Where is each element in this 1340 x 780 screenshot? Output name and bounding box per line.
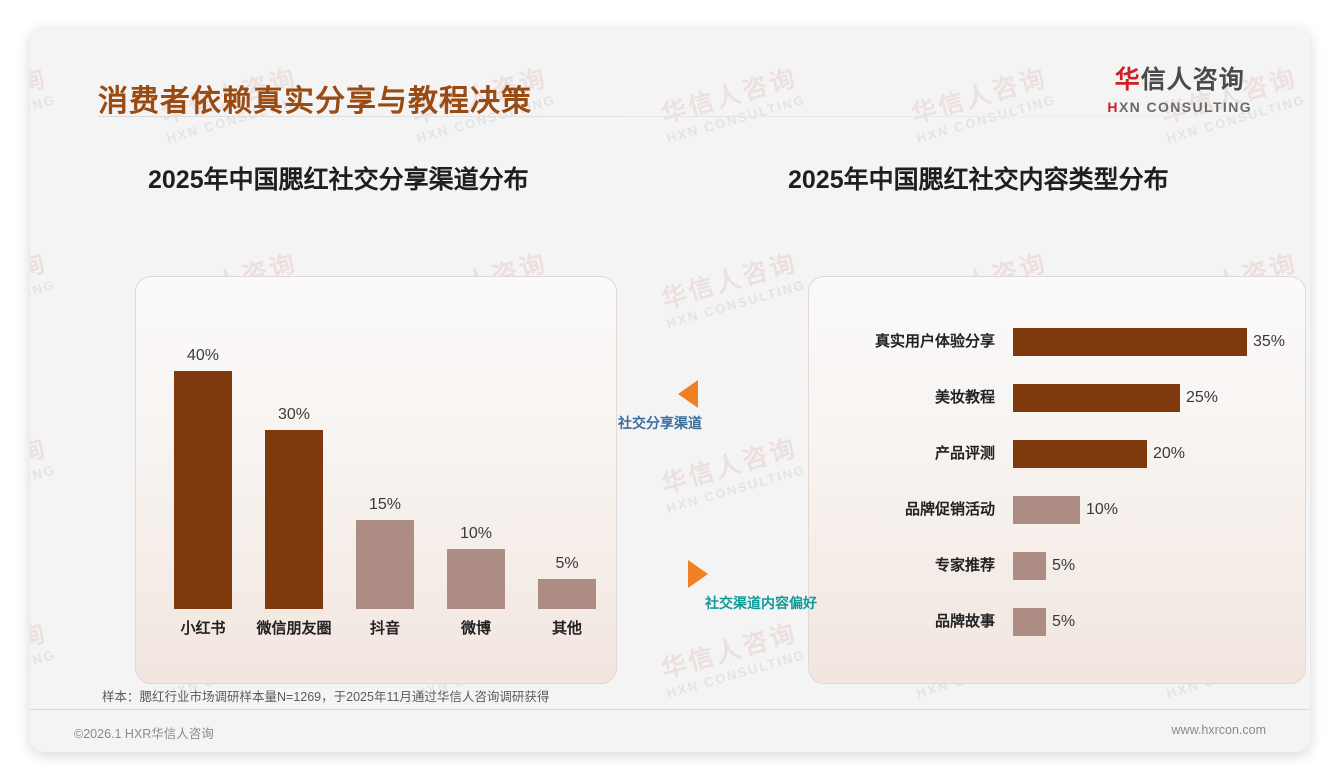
bar-category-label: 其他	[522, 617, 612, 638]
bar-rect[interactable]	[1013, 384, 1180, 412]
watermark-text: 华信人咨询HXN CONSULTING	[657, 249, 807, 331]
bar-value-label: 5%	[538, 555, 596, 573]
watermark-text: 华信人咨询HXN CONSULTING	[30, 619, 57, 701]
bar-category-label: 抖音	[340, 617, 430, 638]
chart-titles: 2025年中国腮红社交分享渠道分布 2025年中国腮红社交内容类型分布	[30, 160, 1310, 210]
bar-value-label: 20%	[1153, 437, 1185, 471]
bar-category-label: 微信朋友圈	[249, 617, 339, 638]
bar-row[interactable]: 美妆教程25%	[809, 381, 1305, 415]
slide-canvas: 华信人咨询HXN CONSULTING华信人咨询HXN CONSULTING华信…	[30, 28, 1310, 752]
bar-rect[interactable]	[174, 371, 232, 609]
bar-value-label: 25%	[1186, 381, 1218, 415]
bar-group[interactable]: 40%小红书	[174, 371, 232, 609]
bar-rect[interactable]	[265, 430, 323, 609]
left-chart-card: 40%小红书30%微信朋友圈15%抖音10%微博5%其他	[135, 276, 617, 684]
bar-value-label: 15%	[356, 496, 414, 514]
bar-category-label: 小红书	[158, 617, 248, 638]
bar-group[interactable]: 5%其他	[538, 579, 596, 609]
horizontal-bar-chart: 真实用户体验分享35%美妆教程25%产品评测20%品牌促销活动10%专家推荐5%…	[809, 277, 1305, 683]
footer-copyright: ©2026.1 HXR华信人咨询	[74, 723, 214, 742]
triangle-left-icon	[678, 380, 698, 408]
bar-row[interactable]: 真实用户体验分享35%	[809, 325, 1305, 359]
logo-en-rest: XN CONSULTING	[1119, 99, 1252, 115]
bar-value-label: 10%	[447, 525, 505, 543]
bar-rect[interactable]	[1013, 328, 1247, 356]
annotation-label-2: 社交渠道内容偏好	[705, 593, 817, 613]
bar-category-label: 美妆教程	[819, 381, 995, 415]
sample-footnote: 样本：腮红行业市场调研样本量N=1269，于2025年11月通过华信人咨询调研获…	[102, 686, 549, 705]
bar-value-label: 5%	[1052, 549, 1075, 583]
bar-category-label: 产品评测	[819, 437, 995, 471]
bar-rect[interactable]	[447, 549, 505, 609]
footer-website: www.hxrcon.com	[1172, 723, 1266, 737]
slide-footer: ©2026.1 HXR华信人咨询 www.hxrcon.com	[30, 709, 1310, 752]
logo-en-red-char: H	[1107, 99, 1119, 115]
watermark-text: 华信人咨询HXN CONSULTING	[30, 249, 57, 331]
annotation-channel-content-pref: 社交渠道内容偏好	[680, 560, 900, 620]
watermark-text: 华信人咨询HXN CONSULTING	[657, 434, 807, 516]
logo-cn-red-char: 华	[1115, 66, 1141, 94]
right-chart-card: 真实用户体验分享35%美妆教程25%产品评测20%品牌促销活动10%专家推荐5%…	[808, 276, 1306, 684]
bar-group[interactable]: 10%微博	[447, 549, 505, 609]
bar-group[interactable]: 30%微信朋友圈	[265, 430, 323, 609]
logo-chinese: 华信人咨询	[1107, 68, 1252, 93]
slide-header: 消费者依赖真实分享与教程决策 华信人咨询 HXN CONSULTING	[30, 28, 1310, 114]
triangle-right-icon	[688, 560, 708, 588]
bar-row[interactable]: 品牌促销活动10%	[809, 493, 1305, 527]
bar-value-label: 5%	[1052, 605, 1075, 639]
company-logo: 华信人咨询 HXN CONSULTING	[1107, 68, 1252, 114]
bar-rect[interactable]	[1013, 440, 1147, 468]
vertical-bar-chart: 40%小红书30%微信朋友圈15%抖音10%微博5%其他	[136, 277, 616, 683]
annotation-label-1: 社交分享渠道	[618, 413, 702, 433]
bar-group[interactable]: 15%抖音	[356, 520, 414, 609]
right-chart-title: 2025年中国腮红社交内容类型分布	[788, 160, 1169, 196]
bar-value-label: 30%	[265, 406, 323, 424]
left-chart-title: 2025年中国腮红社交分享渠道分布	[148, 160, 529, 196]
page-title: 消费者依赖真实分享与教程决策	[98, 76, 532, 120]
logo-english: HXN CONSULTING	[1107, 100, 1252, 114]
watermark-text: 华信人咨询HXN CONSULTING	[30, 434, 57, 516]
bar-category-label: 真实用户体验分享	[819, 325, 995, 359]
bar-rect[interactable]	[1013, 496, 1080, 524]
bar-rect[interactable]	[1013, 608, 1046, 636]
bar-value-label: 40%	[174, 347, 232, 365]
bar-rect[interactable]	[356, 520, 414, 609]
logo-cn-rest: 信人咨询	[1141, 66, 1245, 94]
bar-value-label: 10%	[1086, 493, 1118, 527]
bar-category-label: 品牌促销活动	[819, 493, 995, 527]
annotation-social-share-channel: 社交分享渠道	[618, 380, 818, 440]
bar-rect[interactable]	[538, 579, 596, 609]
bar-category-label: 微博	[431, 617, 521, 638]
header-divider	[98, 116, 1248, 117]
bar-rect[interactable]	[1013, 552, 1046, 580]
watermark-text: 华信人咨询HXN CONSULTING	[657, 619, 807, 701]
bar-value-label: 35%	[1253, 325, 1285, 359]
bar-row[interactable]: 产品评测20%	[809, 437, 1305, 471]
